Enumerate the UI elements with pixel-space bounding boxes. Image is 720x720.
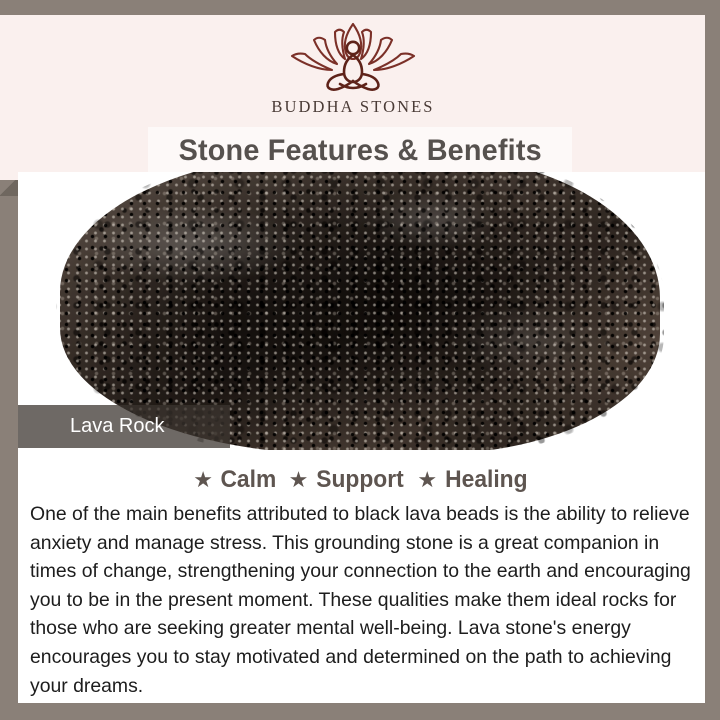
description-text: One of the main benefits attributed to b… [30, 500, 696, 700]
stone-info-poster: BUDDHA STONES Stone Features & Benefits … [0, 0, 720, 720]
benefit-item-support: ★ Support [289, 466, 407, 494]
star-icon: ★ [289, 469, 309, 491]
page-title: Stone Features & Benefits [178, 134, 541, 168]
brand-name: BUDDHA STONES [271, 97, 434, 117]
brand-logo: BUDDHA STONES [0, 18, 706, 122]
star-icon: ★ [417, 469, 437, 491]
frame-bottom-bar [0, 703, 720, 720]
frame-left-bar [0, 180, 18, 705]
frame-right-bar [705, 0, 720, 720]
benefit-label: Support [317, 466, 404, 494]
benefit-label: Calm [220, 466, 276, 494]
photo-caption-band: Lava Rock [18, 405, 230, 448]
benefit-label: Healing [445, 466, 527, 494]
benefit-item-calm: ★ Calm [193, 466, 277, 494]
title-panel: Stone Features & Benefits [148, 127, 572, 174]
benefit-item-healing: ★ Healing [417, 466, 529, 494]
lotus-meditation-icon [278, 18, 428, 96]
photo-caption-label: Lava Rock [18, 415, 165, 438]
star-icon: ★ [193, 469, 213, 491]
frame-top-bar [0, 0, 720, 15]
benefits-row: ★ Calm ★ Support ★ Healing [18, 466, 705, 494]
